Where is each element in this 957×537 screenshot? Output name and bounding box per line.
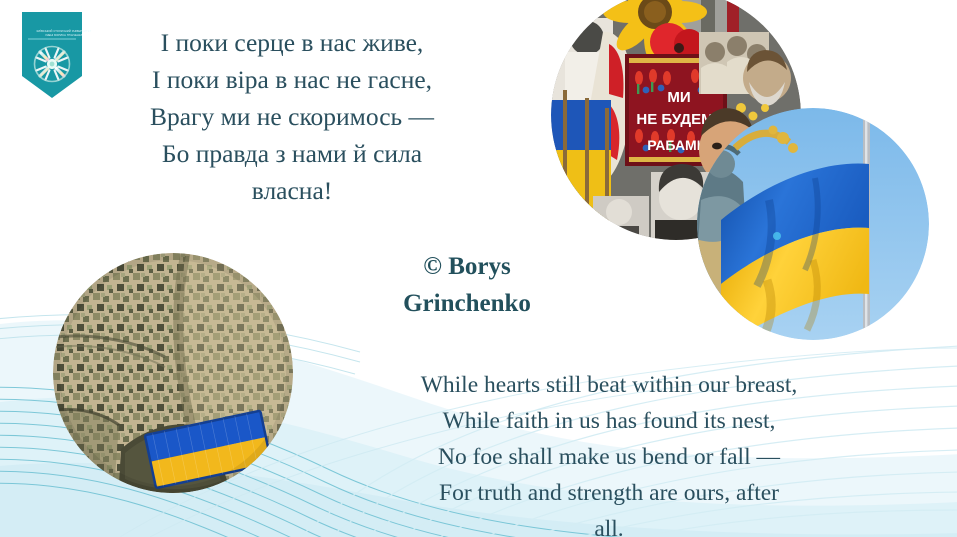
poem-english: While hearts still beat within our breas… [364, 367, 854, 537]
presentation-slide: КИЇВСЬКИЙ СТОЛИЧНИЙ УНІВЕРСИТЕТ ІМЕНІ БО… [0, 0, 957, 537]
flag-photo [697, 108, 929, 340]
logo-shield-icon [12, 8, 92, 103]
svg-text:РАБАМИ: РАБАМИ [647, 137, 707, 153]
svg-text:МИ: МИ [667, 89, 690, 106]
ukrainian-flag-image [697, 108, 929, 340]
poem-ukrainian: І поки серце в нас живе, І поки віра в н… [118, 24, 466, 209]
soldier-uniform-image [53, 253, 293, 493]
university-logo: КИЇВСЬКИЙ СТОЛИЧНИЙ УНІВЕРСИТЕТ ІМЕНІ БО… [12, 8, 92, 103]
poem-author: © Borys Grinchenko [352, 248, 582, 322]
logo-caption: КИЇВСЬКИЙ СТОЛИЧНИЙ УНІВЕРСИТЕТ ІМЕНІ БО… [24, 30, 104, 38]
svg-text:НЕ БУДЕМ: НЕ БУДЕМ [636, 111, 713, 128]
camo-photo [53, 253, 293, 493]
